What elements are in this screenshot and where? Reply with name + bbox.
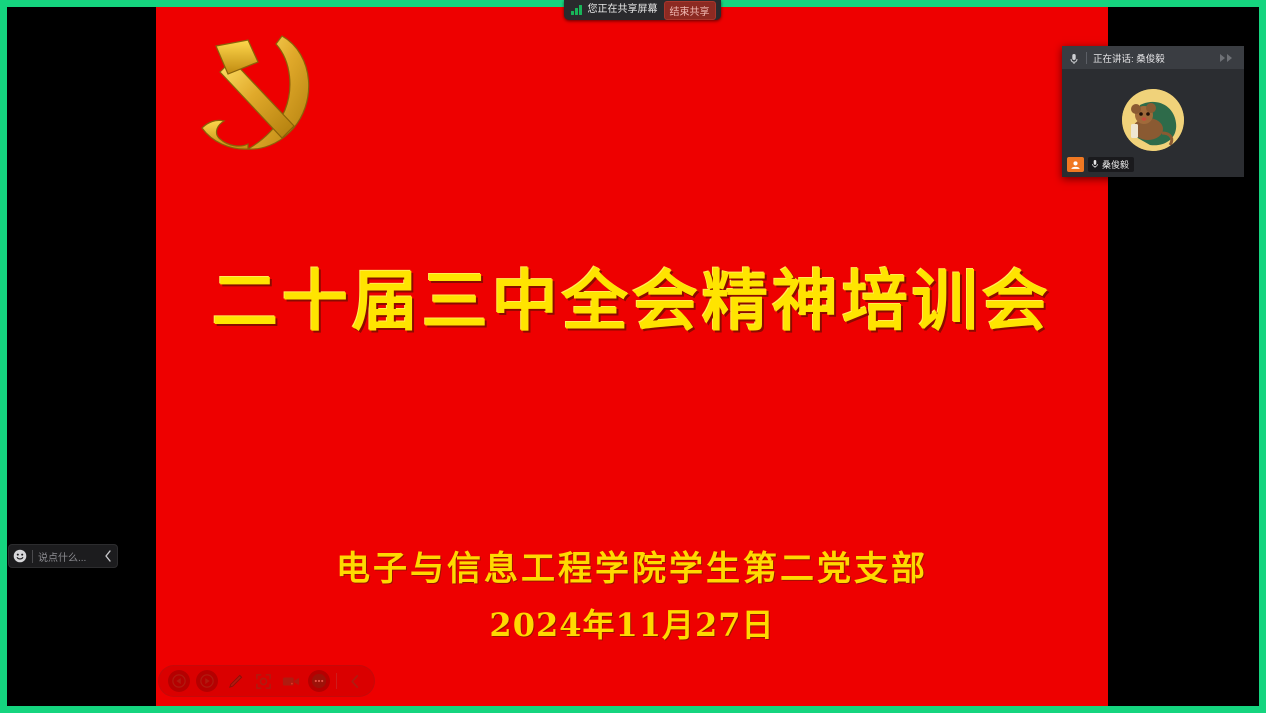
speaker-video-panel[interactable]: 正在讲话: 桑俊毅 bbox=[1062, 46, 1244, 177]
double-chevron-right-icon[interactable] bbox=[1218, 52, 1238, 64]
video-panel-header: 正在讲话: 桑俊毅 bbox=[1062, 46, 1244, 69]
microphone-icon bbox=[1091, 156, 1099, 174]
previous-slide-button[interactable] bbox=[168, 670, 190, 692]
header-divider bbox=[1086, 52, 1087, 64]
video-camera-button[interactable] bbox=[280, 670, 302, 692]
chat-divider bbox=[32, 550, 33, 563]
next-slide-button[interactable] bbox=[196, 670, 218, 692]
speaking-label: 正在讲话: 桑俊毅 bbox=[1093, 51, 1212, 65]
slide-content: 二十届三中全会精神培训会 电子与信息工程学院学生第二党支部 2024年11月27… bbox=[156, 0, 1108, 713]
annotate-button[interactable] bbox=[224, 670, 246, 692]
share-status-bar: 您正在共享屏幕 结束共享 bbox=[564, 0, 721, 20]
speaker-name: 桑俊毅 bbox=[1136, 54, 1165, 65]
speaking-prefix: 正在讲话: bbox=[1093, 54, 1134, 65]
participant-icon bbox=[1067, 157, 1084, 172]
share-status-text: 您正在共享屏幕 bbox=[588, 0, 658, 20]
slide-date: 2024年11月27日 bbox=[156, 600, 1108, 646]
presentation-toolbar bbox=[158, 665, 375, 697]
slide-organization: 电子与信息工程学院学生第二党支部 bbox=[156, 541, 1108, 590]
video-panel-footer: 桑俊毅 bbox=[1067, 157, 1134, 172]
slide-title: 二十届三中全会精神培训会 bbox=[156, 248, 1108, 344]
toolbar-divider bbox=[336, 673, 337, 689]
signal-bars-icon bbox=[571, 5, 582, 15]
end-share-button[interactable]: 结束共享 bbox=[664, 1, 716, 20]
video-panel-body: 桑俊毅 bbox=[1062, 69, 1244, 177]
shared-slide: 二十届三中全会精神培训会 电子与信息工程学院学生第二党支部 2024年11月27… bbox=[156, 0, 1108, 713]
microphone-icon bbox=[1068, 52, 1080, 64]
screen-root: 二十届三中全会精神培训会 电子与信息工程学院学生第二党支部 2024年11月27… bbox=[0, 0, 1266, 713]
participant-name: 桑俊毅 bbox=[1102, 158, 1129, 171]
avatar bbox=[1122, 89, 1184, 151]
chevron-left-icon[interactable] bbox=[103, 549, 113, 563]
cpc-hammer-sickle-emblem-icon bbox=[186, 22, 326, 162]
more-options-button[interactable] bbox=[308, 670, 330, 692]
spotlight-button[interactable] bbox=[252, 670, 274, 692]
collapse-toolbar-button[interactable] bbox=[343, 670, 365, 692]
smiley-emoji-icon[interactable] bbox=[13, 549, 27, 563]
chat-input[interactable]: 说点什么... bbox=[38, 549, 98, 564]
participant-name-chip: 桑俊毅 bbox=[1088, 157, 1134, 172]
chat-input-bar[interactable]: 说点什么... bbox=[8, 544, 118, 568]
